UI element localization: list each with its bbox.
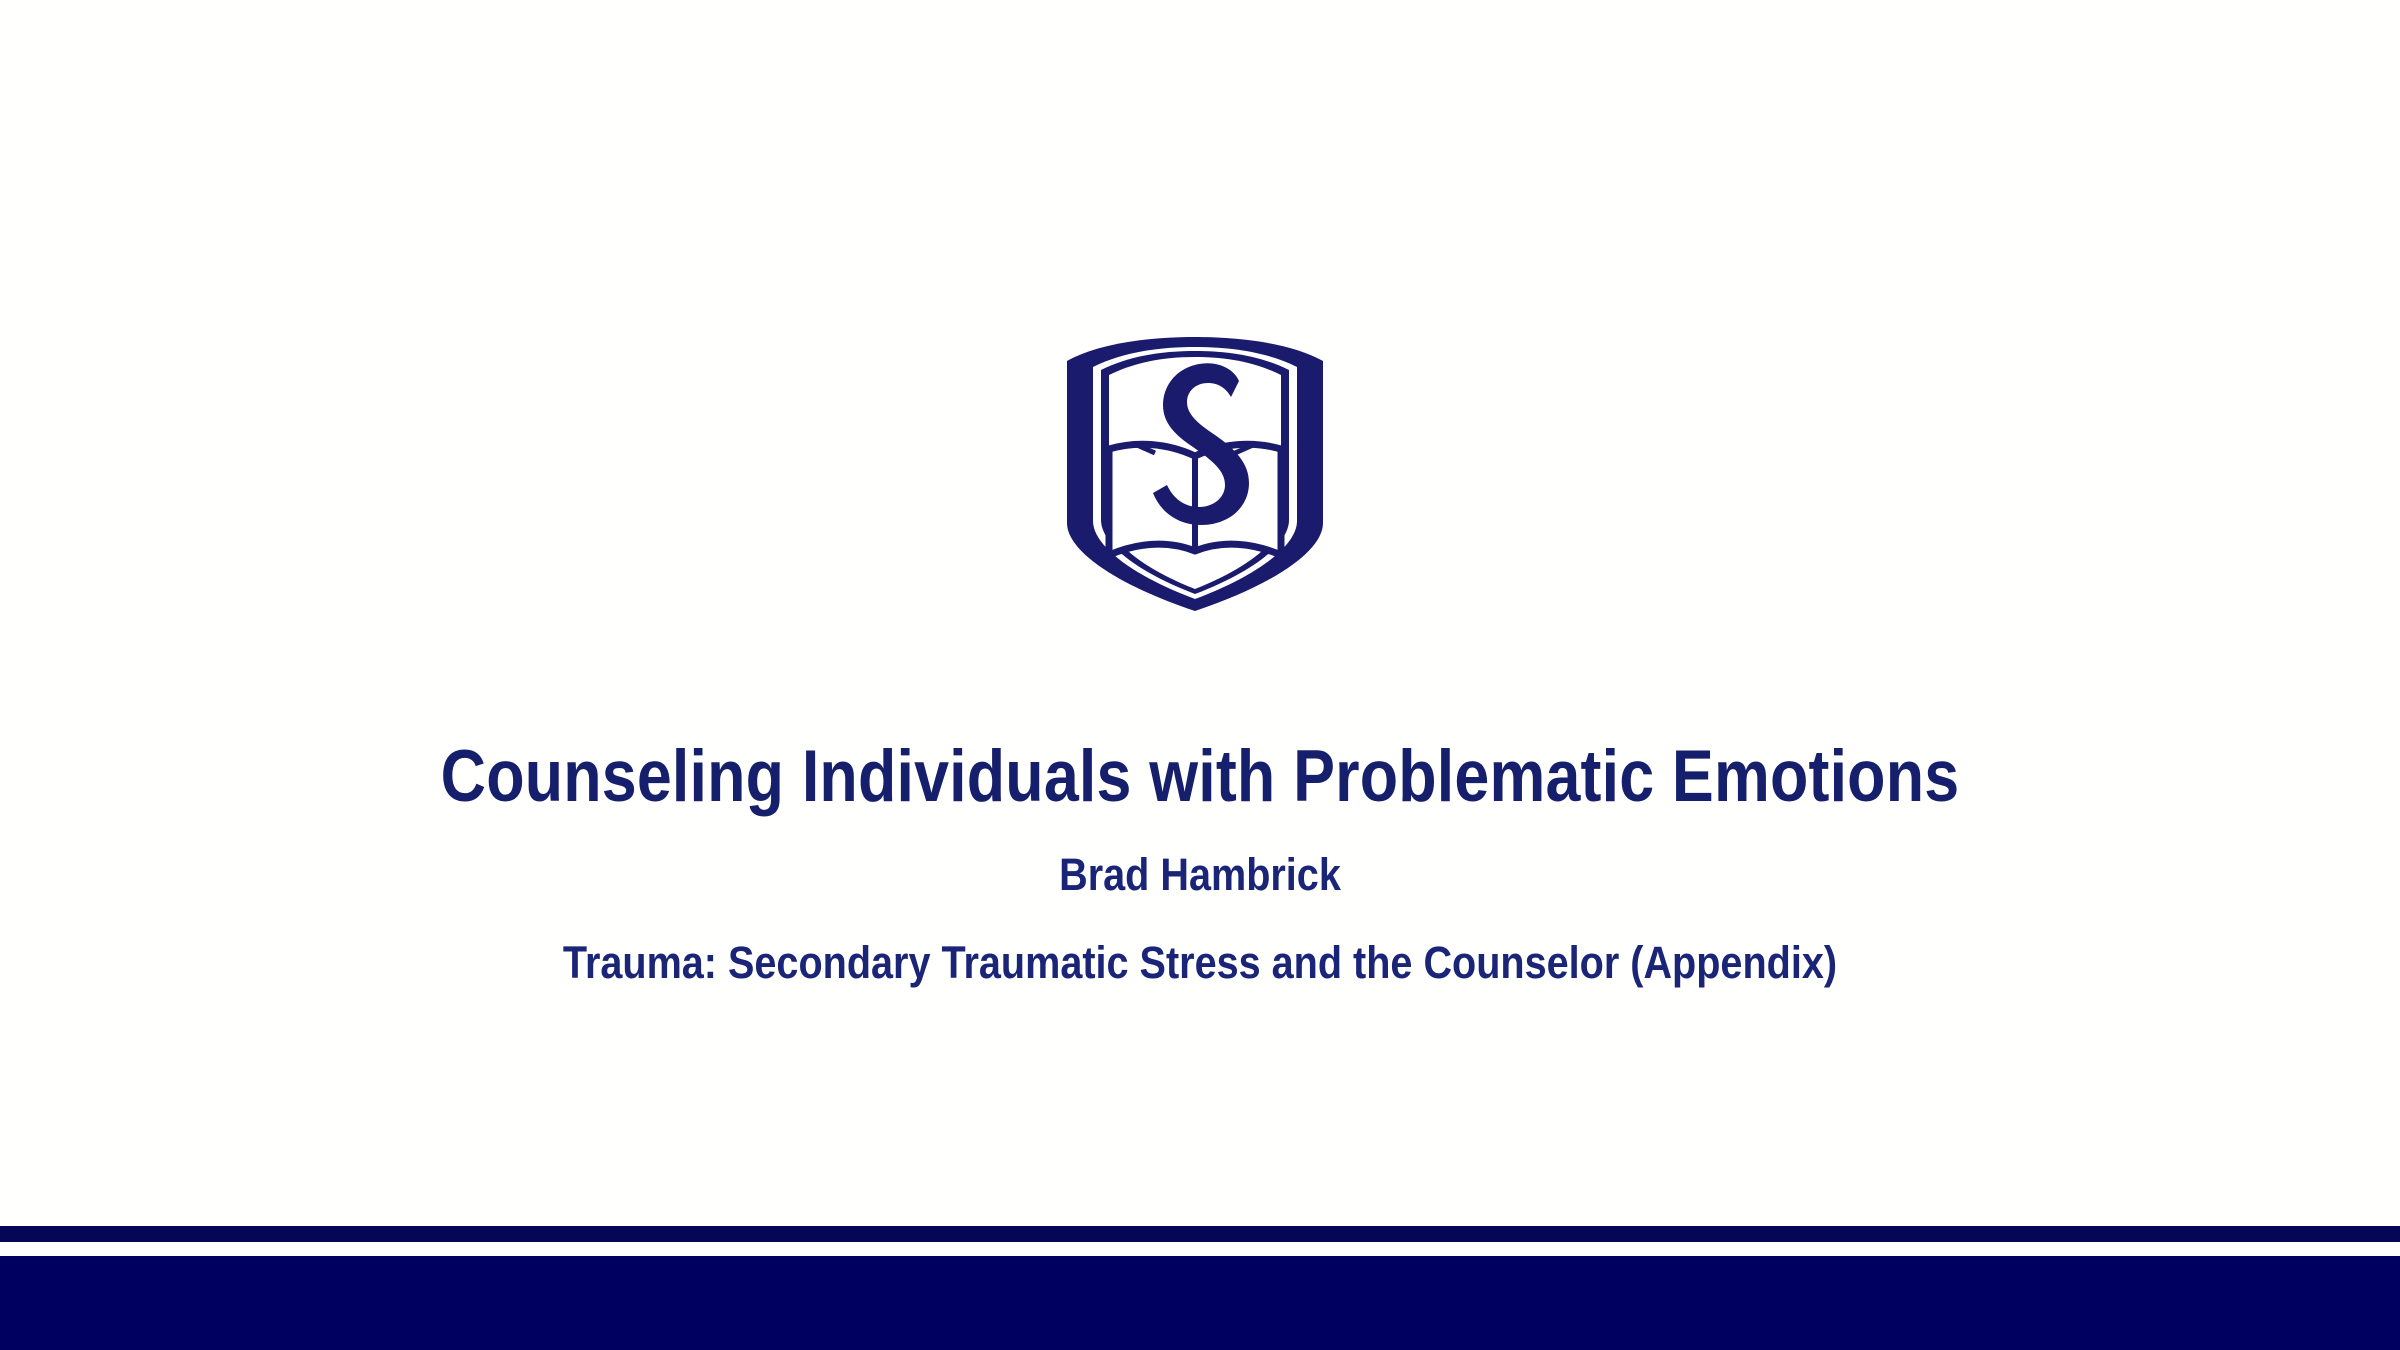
page-title: Counseling Individuals with Problematic … (168, 735, 2232, 819)
footer-thin-rule (0, 1226, 2400, 1242)
title-text-block: Counseling Individuals with Problematic … (0, 735, 2400, 991)
session-subtitle: Trauma: Secondary Traumatic Stress and t… (144, 935, 2256, 991)
sbts-shield-logo (1063, 337, 1327, 611)
title-slide: Counseling Individuals with Problematic … (0, 0, 2400, 1350)
presenter-name: Brad Hambrick (144, 847, 2256, 903)
footer-bar (0, 1256, 2400, 1350)
